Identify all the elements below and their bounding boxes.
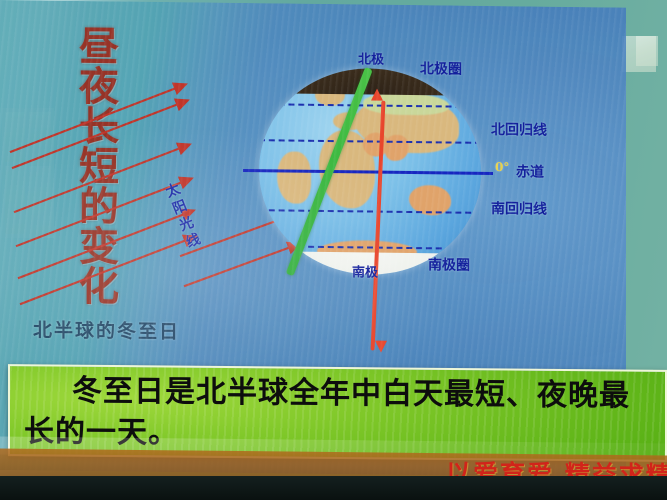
label-equator: 赤道 — [516, 161, 544, 181]
label-tropic-of-capricorn: 南回归线 — [491, 198, 547, 219]
axis-arrow-top — [371, 89, 383, 101]
label-antarctic-circle: 南极圈 — [428, 254, 470, 275]
label-tropic-of-cancer: 北回归线 — [491, 119, 547, 140]
label-equator-degree: 0° — [495, 160, 509, 174]
label-north-pole: 北极 — [358, 48, 384, 67]
photo-bottom-shadow — [0, 476, 667, 500]
green-text-banner: 冬至日是北半球全年中白天最短、夜晚最长的一天。 — [8, 364, 667, 462]
slide-subtitle-caption: 北半球的冬至日 — [33, 315, 180, 344]
label-arctic-circle: 北极圈 — [420, 58, 462, 79]
banner-sentence: 冬至日是北半球全年中白天最短、夜晚最长的一天。 — [24, 370, 659, 458]
window-reflection-right-2 — [636, 36, 658, 66]
globe-diagram — [255, 61, 487, 282]
land-india — [385, 135, 409, 161]
label-south-pole: 南极 — [352, 261, 378, 280]
land-south-america — [277, 151, 311, 203]
axis-arrow-bottom — [375, 341, 387, 353]
photo-of-projection-screen: 昼夜长短的变化 太阳光线 — [0, 0, 667, 500]
